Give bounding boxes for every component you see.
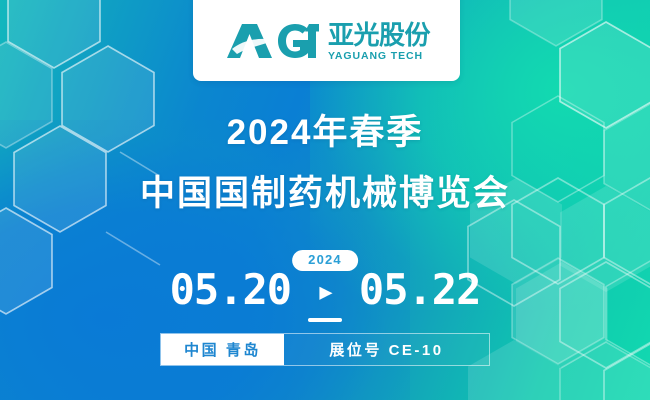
headline-line-2: 中国国制药机械博览会 xyxy=(0,173,650,216)
headline-block: 2024年春季 中国国制药机械博览会 xyxy=(0,112,650,215)
right-triangle-arrow-icon: ▶ xyxy=(319,280,332,305)
exhibition-banner: 亚光股份 YAGUANG TECH 2024年春季 中国国制药机械博览会 202… xyxy=(0,0,650,400)
headline-line-1: 2024年春季 xyxy=(0,112,650,155)
venue-booth-number: 展位号 CE-10 xyxy=(284,334,489,365)
date-underline-rule xyxy=(308,318,342,322)
logo-wordmark: 亚光股份 YAGUANG TECH xyxy=(328,22,430,62)
date-range: 05.20 ▶ 05.22 xyxy=(0,269,650,311)
agt-logo-icon xyxy=(223,20,319,62)
logo-chinese-name: 亚光股份 xyxy=(328,22,430,48)
logo-english-name: YAGUANG TECH xyxy=(328,51,423,62)
venue-bar: 中国 青岛 展位号 CE-10 xyxy=(160,333,490,366)
company-logo-card: 亚光股份 YAGUANG TECH xyxy=(193,0,460,81)
venue-city: 中国 青岛 xyxy=(161,334,284,365)
start-date: 05.20 xyxy=(170,265,291,314)
end-date: 05.22 xyxy=(359,265,480,314)
